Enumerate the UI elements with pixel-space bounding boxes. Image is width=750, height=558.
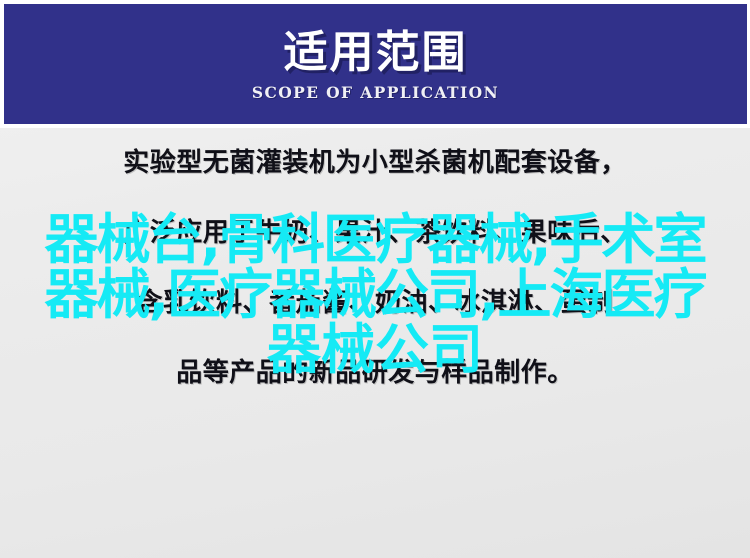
- page-root: 适用范围 SCOPE OF APPLICATION 实验型无菌灌装机为小型杀菌机…: [0, 0, 750, 558]
- banner-subtitle: SCOPE OF APPLICATION: [252, 83, 499, 102]
- description-line: 品等产品的新品研发与样品制作。: [0, 360, 750, 386]
- description-line: 实验型无菌灌装机为小型杀菌机配套设备，: [0, 150, 750, 176]
- scope-banner: 适用范围 SCOPE OF APPLICATION: [4, 4, 747, 124]
- description-line: 含乳饮料、番茄酱、奶油、冰淇淋、蛋制: [0, 290, 750, 316]
- description-text-block: 实验型无菌灌装机为小型杀菌机配套设备， 广泛应用于牛奶、果汁、茶饮料、果味后、 …: [0, 150, 750, 386]
- description-line: 广泛应用于牛奶、果汁、茶饮料、果味后、: [0, 220, 750, 246]
- banner-container: 适用范围 SCOPE OF APPLICATION: [0, 0, 750, 128]
- banner-title: 适用范围: [284, 30, 468, 76]
